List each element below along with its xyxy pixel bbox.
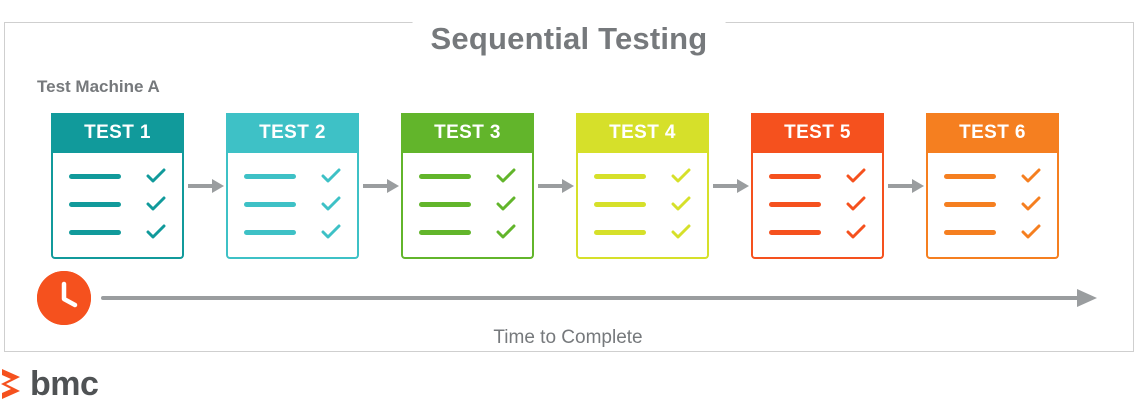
test-card-1[interactable]: TEST 1 [51, 113, 184, 259]
check-icon [496, 196, 516, 212]
checklist-row [69, 224, 166, 240]
check-icon [1021, 224, 1041, 240]
bmc-logo: bmc [0, 362, 98, 406]
checklist-row [944, 224, 1041, 240]
checklist-dash [944, 202, 996, 207]
checklist-dash [69, 202, 121, 207]
test-card-3[interactable]: TEST 3 [401, 113, 534, 259]
card-wrap-2: TEST 2 [226, 113, 401, 259]
check-icon [846, 168, 866, 184]
diagram-panel: Sequential Testing Test Machine A TEST 1… [4, 22, 1134, 352]
check-icon [496, 168, 516, 184]
checklist-dash [244, 174, 296, 179]
check-icon [146, 168, 166, 184]
checklist-row [594, 224, 691, 240]
checklist-row [594, 196, 691, 212]
checklist-row [419, 224, 516, 240]
bmc-mark-icon [0, 367, 28, 401]
checklist-dash [244, 202, 296, 207]
test-card-5-body [753, 153, 882, 257]
test-card-4-body [578, 153, 707, 257]
test-card-1-body [53, 153, 182, 257]
test-card-2-title: TEST 2 [228, 113, 357, 153]
check-icon [1021, 196, 1041, 212]
checklist-dash [594, 174, 646, 179]
checklist-row [244, 224, 341, 240]
test-card-6-body [928, 153, 1057, 257]
page-title: Sequential Testing [413, 21, 726, 57]
test-card-6[interactable]: TEST 6 [926, 113, 1059, 259]
checklist-row [594, 168, 691, 184]
test-card-3-body [403, 153, 532, 257]
checklist-dash [769, 230, 821, 235]
test-card-5[interactable]: TEST 5 [751, 113, 884, 259]
timeline: Time to Complete [37, 271, 1099, 327]
checklist-dash [419, 230, 471, 235]
checklist-dash [419, 202, 471, 207]
checklist-row [244, 168, 341, 184]
flow-arrow-icon [884, 176, 926, 196]
checklist-dash [769, 174, 821, 179]
checklist-dash [419, 174, 471, 179]
checklist-dash [69, 230, 121, 235]
checklist-dash [769, 202, 821, 207]
flow-arrow-icon [184, 176, 226, 196]
checklist-row [769, 196, 866, 212]
check-icon [321, 196, 341, 212]
flow-arrow-icon [709, 176, 751, 196]
checklist-row [769, 168, 866, 184]
flow-arrow-icon [359, 176, 401, 196]
card-wrap-6: TEST 6 [926, 113, 1059, 259]
timeline-line [101, 296, 1086, 300]
flow-arrow-icon [534, 176, 576, 196]
card-wrap-5: TEST 5 [751, 113, 926, 259]
check-icon [321, 224, 341, 240]
timeline-label: Time to Complete [37, 327, 1099, 349]
test-card-6-title: TEST 6 [928, 113, 1057, 153]
test-card-2[interactable]: TEST 2 [226, 113, 359, 259]
checklist-row [944, 196, 1041, 212]
checklist-dash [944, 230, 996, 235]
test-card-4[interactable]: TEST 4 [576, 113, 709, 259]
check-icon [846, 196, 866, 212]
card-wrap-4: TEST 4 [576, 113, 751, 259]
checklist-dash [69, 174, 121, 179]
test-card-1-title: TEST 1 [53, 113, 182, 153]
checklist-row [944, 168, 1041, 184]
checklist-row [69, 168, 166, 184]
check-icon [146, 196, 166, 212]
checklist-dash [594, 202, 646, 207]
check-icon [321, 168, 341, 184]
checklist-row [244, 196, 341, 212]
card-wrap-3: TEST 3 [401, 113, 576, 259]
check-icon [146, 224, 166, 240]
test-card-5-title: TEST 5 [753, 113, 882, 153]
bmc-wordmark: bmc [30, 367, 98, 401]
check-icon [496, 224, 516, 240]
checklist-row [69, 196, 166, 212]
checklist-dash [244, 230, 296, 235]
check-icon [671, 196, 691, 212]
checklist-row [419, 168, 516, 184]
check-icon [671, 224, 691, 240]
timeline-arrow-icon [1077, 287, 1099, 314]
test-cards-row: TEST 1 TEST 2 [51, 113, 1101, 263]
test-card-2-body [228, 153, 357, 257]
checklist-dash [594, 230, 646, 235]
checklist-row [769, 224, 866, 240]
test-card-4-title: TEST 4 [578, 113, 707, 153]
check-icon [1021, 168, 1041, 184]
test-card-3-title: TEST 3 [403, 113, 532, 153]
check-icon [671, 168, 691, 184]
machine-label: Test Machine A [37, 77, 160, 97]
clock-icon [37, 271, 91, 325]
check-icon [846, 224, 866, 240]
checklist-dash [944, 174, 996, 179]
card-wrap-1: TEST 1 [51, 113, 226, 259]
checklist-row [419, 196, 516, 212]
